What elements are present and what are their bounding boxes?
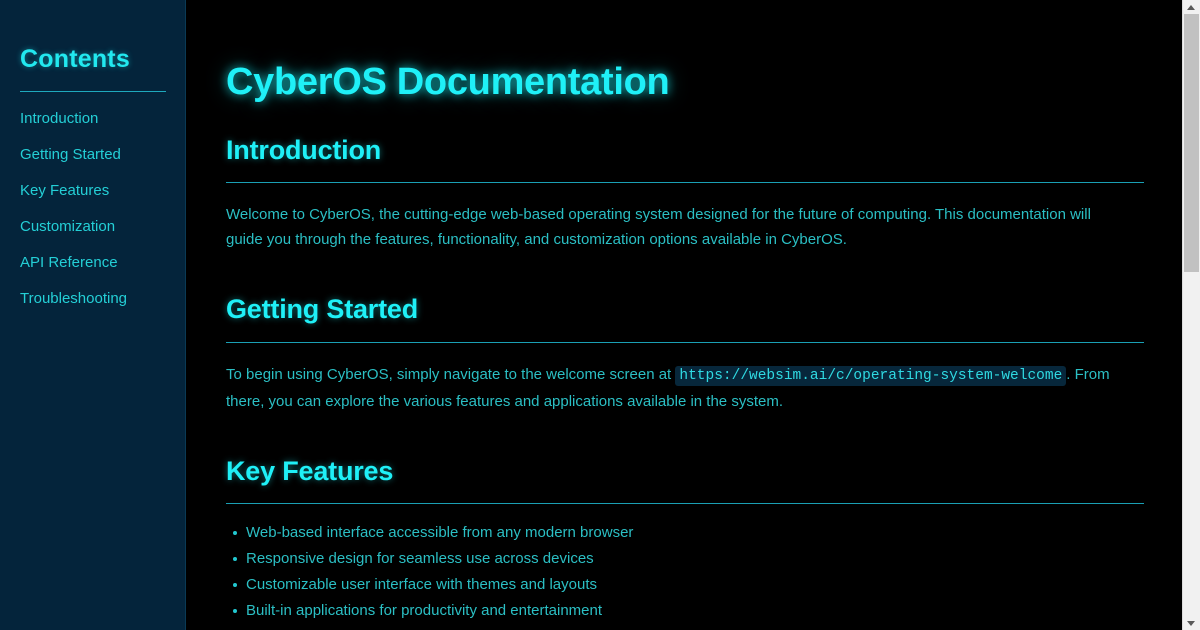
list-item: Built-in applications for productivity a… <box>226 598 1144 624</box>
sidebar-item-api-reference[interactable]: API Reference <box>20 255 185 270</box>
paragraph-introduction: Welcome to CyberOS, the cutting-edge web… <box>226 202 1126 252</box>
page-scrollbar[interactable] <box>1182 0 1200 630</box>
main-content: CyberOS Documentation Introduction Welco… <box>186 0 1200 630</box>
chevron-up-icon[interactable] <box>1183 0 1200 14</box>
section-rule <box>226 182 1144 183</box>
section-rule <box>226 503 1144 504</box>
section-heading-getting-started: Getting Started <box>226 294 1144 324</box>
sidebar-item-key-features[interactable]: Key Features <box>20 183 185 198</box>
page-title: CyberOS Documentation <box>226 62 1144 103</box>
paragraph-text-before-code: To begin using CyberOS, simply navigate … <box>226 366 671 383</box>
list-item: Responsive design for seamless use acros… <box>226 546 1144 572</box>
sidebar-nav: Introduction Getting Started Key Feature… <box>20 111 185 306</box>
paragraph-getting-started: To begin using CyberOS, simply navigate … <box>226 362 1126 414</box>
welcome-screen-url-code[interactable]: https://websim.ai/c/operating-system-wel… <box>675 366 1066 386</box>
section-rule <box>226 342 1144 343</box>
section-heading-introduction: Introduction <box>226 135 1144 165</box>
chevron-down-icon[interactable] <box>1183 616 1200 630</box>
sidebar-item-getting-started[interactable]: Getting Started <box>20 147 185 162</box>
sidebar: Contents Introduction Getting Started Ke… <box>0 0 186 630</box>
sidebar-item-introduction[interactable]: Introduction <box>20 111 185 126</box>
sidebar-title: Contents <box>20 46 185 74</box>
section-getting-started: Getting Started To begin using CyberOS, … <box>226 294 1144 413</box>
section-introduction: Introduction Welcome to CyberOS, the cut… <box>226 135 1144 252</box>
key-features-list: Web-based interface accessible from any … <box>226 520 1144 630</box>
scrollbar-thumb[interactable] <box>1184 14 1199 272</box>
section-key-features: Key Features Web-based interface accessi… <box>226 456 1144 630</box>
list-item: Web-based interface accessible from any … <box>226 520 1144 546</box>
section-body-getting-started: To begin using CyberOS, simply navigate … <box>226 362 1144 414</box>
list-item: Customizable user interface with themes … <box>226 572 1144 598</box>
sidebar-item-troubleshooting[interactable]: Troubleshooting <box>20 291 185 306</box>
sidebar-item-customization[interactable]: Customization <box>20 219 185 234</box>
sidebar-divider <box>20 91 166 92</box>
list-item: Cloud storage integration for file manag… <box>226 624 1144 630</box>
section-body-introduction: Welcome to CyberOS, the cutting-edge web… <box>226 202 1144 252</box>
section-heading-key-features: Key Features <box>226 456 1144 486</box>
